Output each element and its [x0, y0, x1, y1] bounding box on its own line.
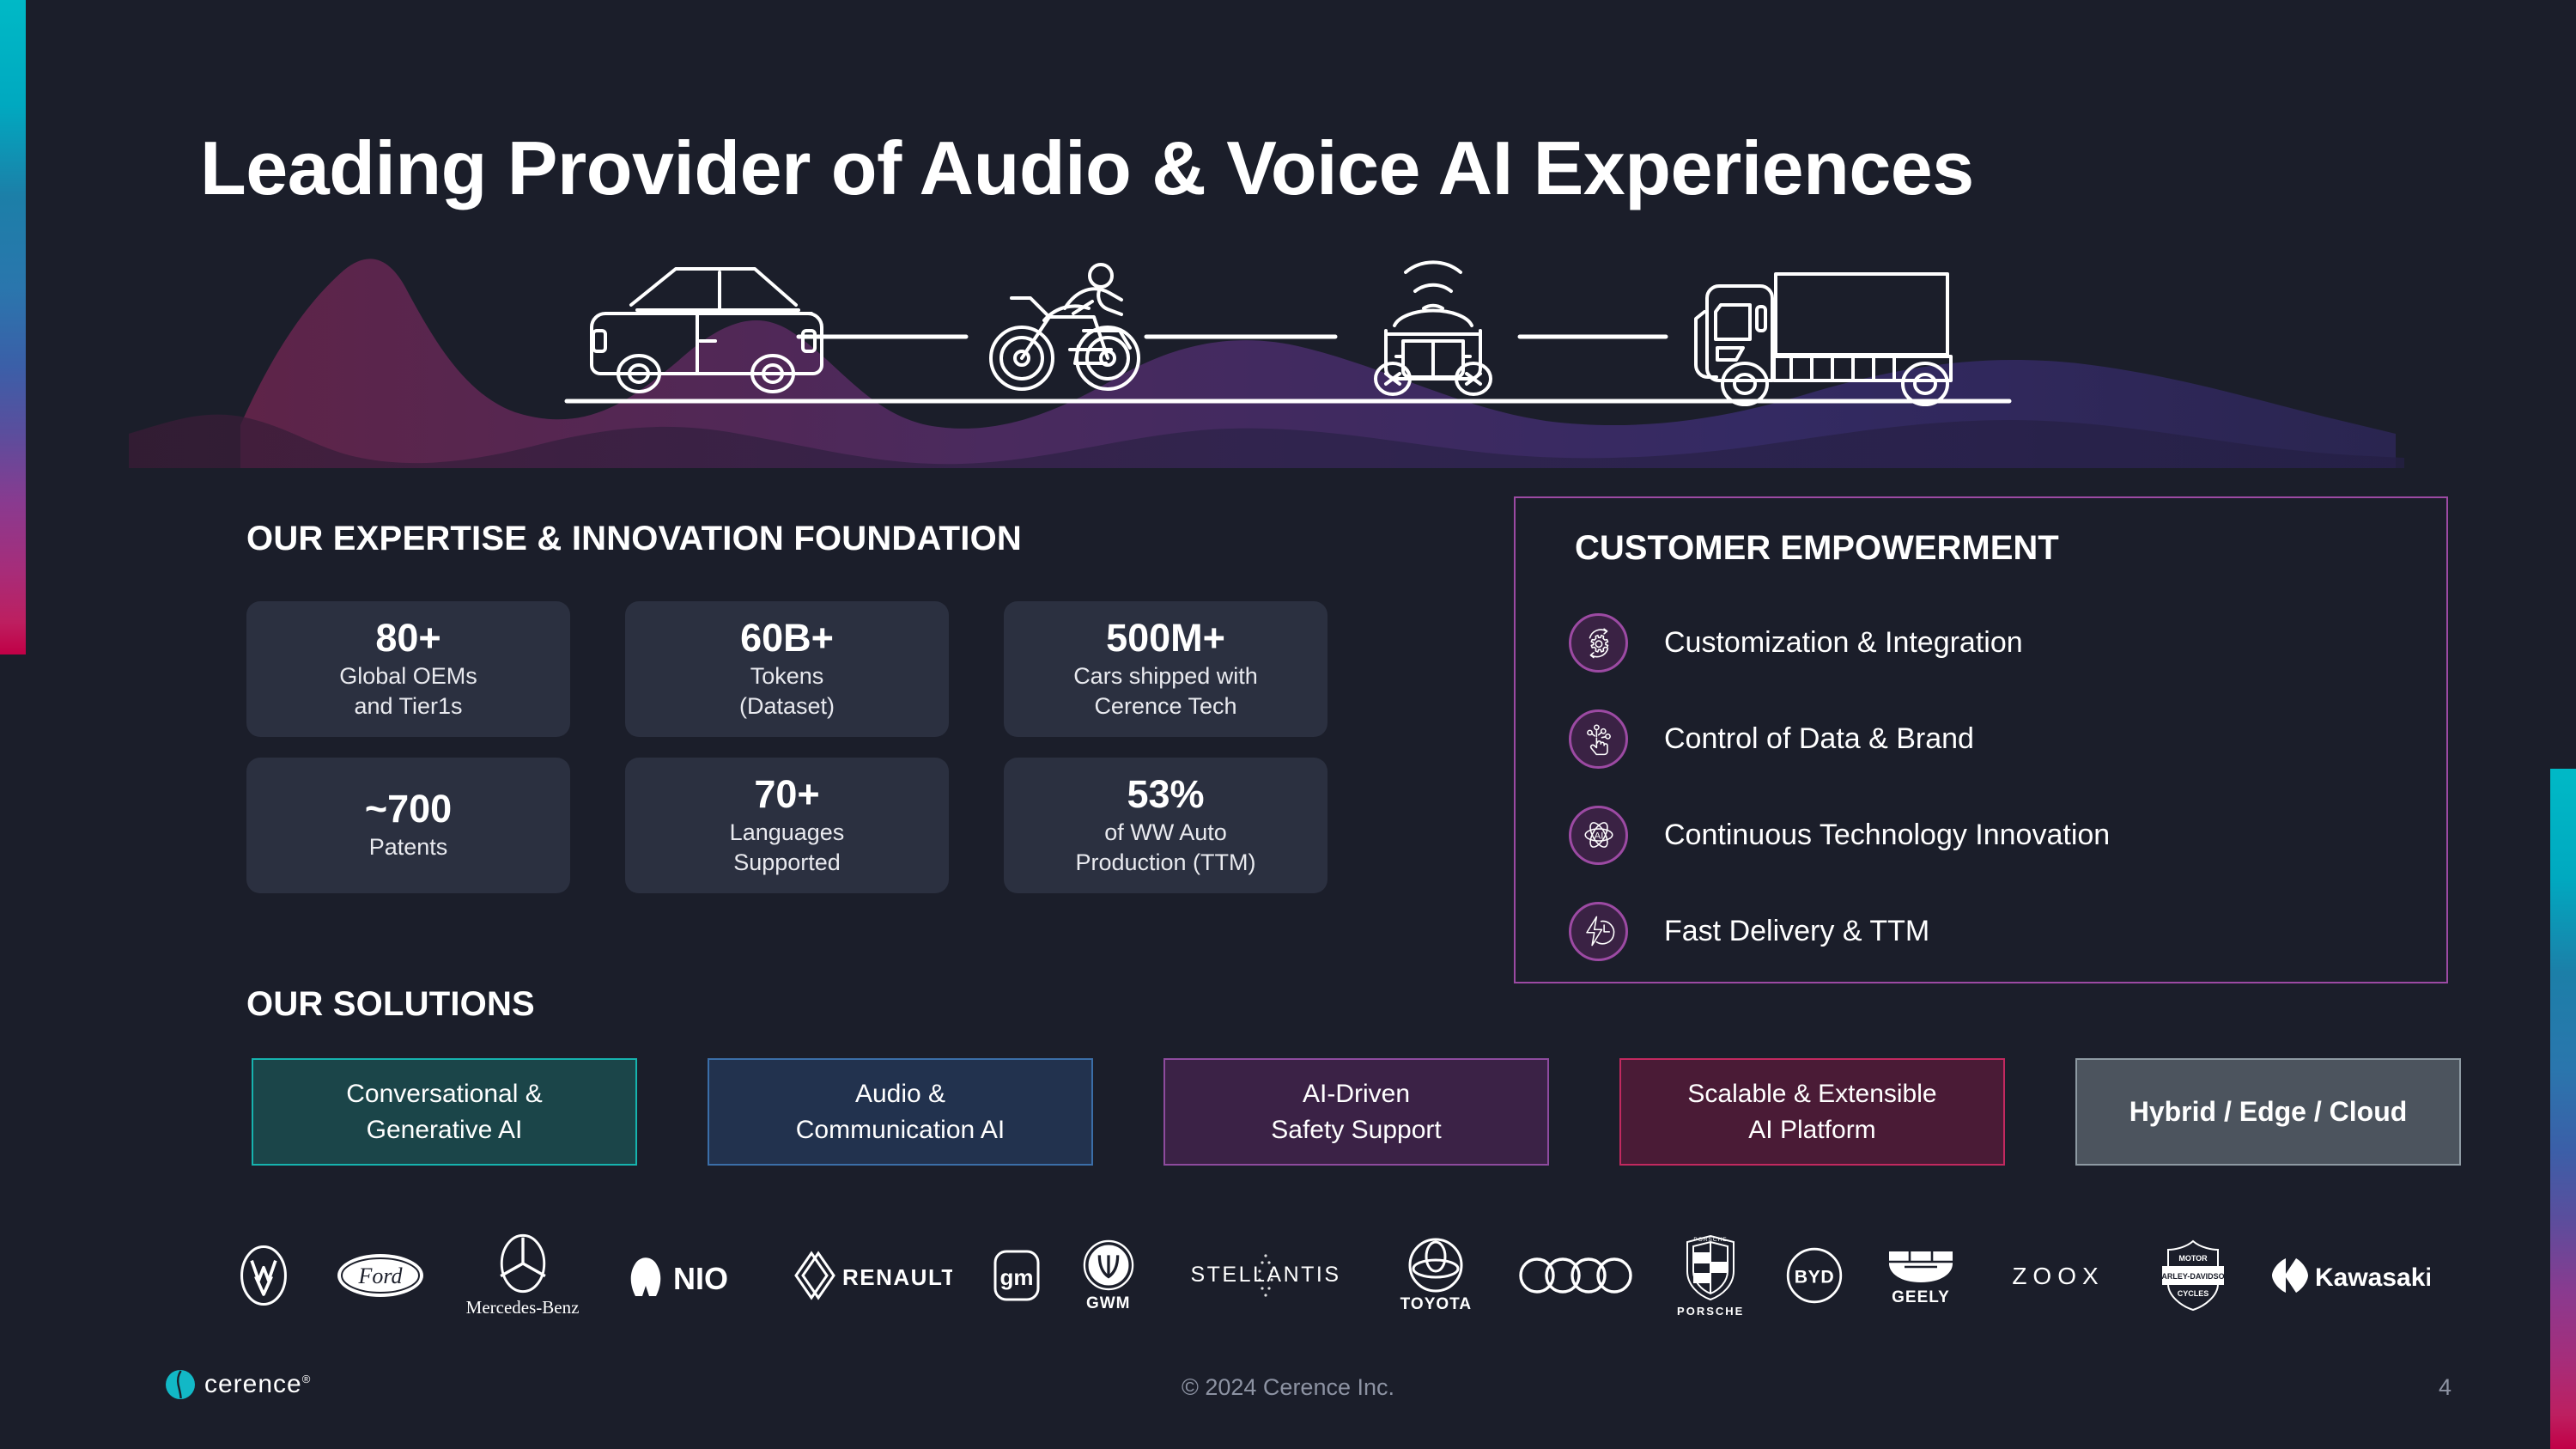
svg-text:HARLEY-DAVIDSON: HARLEY-DAVIDSON — [2160, 1272, 2227, 1281]
harley-davidson-logo: HARLEY-DAVIDSONMOTORCYCLES — [2160, 1239, 2227, 1312]
stat-label: Patents — [369, 832, 448, 862]
svg-text:Ford: Ford — [358, 1263, 404, 1288]
stat-value: 80+ — [375, 618, 440, 658]
stat-value: 53% — [1127, 774, 1204, 814]
page-title: Leading Provider of Audio & Voice AI Exp… — [200, 125, 1974, 212]
logo-wordmark: GEELY — [1892, 1288, 1950, 1307]
svg-text:BYD: BYD — [1794, 1267, 1833, 1288]
customer-empowerment-panel: CUSTOMER EMPOWERMENT Customization & Int… — [1514, 496, 2448, 983]
customer-logo-strip: FordMercedes-BenzNIORENAULTgmGWMSTELLANT… — [232, 1224, 2430, 1327]
svg-text:ZOOX: ZOOX — [2013, 1263, 2105, 1289]
stat-card: 80+Global OEMsand Tier1s — [246, 601, 570, 737]
stat-label: Cars shipped withCerence Tech — [1073, 661, 1258, 721]
zoox-logo: ZOOX — [1998, 1258, 2118, 1293]
solutions-row: Conversational &Generative AIAudio &Comm… — [252, 1058, 2461, 1166]
stat-card: ~700Patents — [246, 758, 570, 893]
stat-card: 70+LanguagesSupported — [625, 758, 949, 893]
audi-logo — [1516, 1256, 1637, 1295]
byd-logo: BYD — [1785, 1246, 1844, 1305]
hero-vehicle-row — [0, 219, 2576, 468]
stat-card: 60B+Tokens(Dataset) — [625, 601, 949, 737]
car-icon — [592, 269, 822, 392]
logo-wordmark: PORSCHE — [1677, 1305, 1744, 1318]
stat-card: 53%of WW AutoProduction (TTM) — [1004, 758, 1327, 893]
stat-value: ~700 — [365, 788, 452, 829]
stat-value: 500M+ — [1106, 618, 1225, 658]
svg-text:gm: gm — [1000, 1264, 1034, 1290]
empowerment-heading: CUSTOMER EMPOWERMENT — [1575, 529, 2059, 568]
svg-text:PORSCHE: PORSCHE — [1694, 1237, 1728, 1243]
stat-value: 70+ — [754, 774, 819, 814]
bolt-clock-icon — [1569, 902, 1628, 961]
svg-text:NIO: NIO — [673, 1261, 728, 1296]
stat-card: 500M+Cars shipped withCerence Tech — [1004, 601, 1327, 737]
motorcycle-icon — [991, 265, 1139, 389]
svg-text:Kawasaki: Kawasaki — [2315, 1263, 2430, 1292]
solution-box[interactable]: AI-DrivenSafety Support — [1163, 1058, 1549, 1166]
solution-box[interactable]: Hybrid / Edge / Cloud — [2075, 1058, 2461, 1166]
toyota-logo: TOYOTA — [1396, 1238, 1475, 1314]
logo-wordmark: TOYOTA — [1400, 1295, 1472, 1314]
kawasaki-logo: Kawasaki — [2267, 1255, 2430, 1296]
renault-logo: RENAULT — [789, 1250, 952, 1301]
stat-label: Tokens(Dataset) — [739, 661, 835, 721]
svg-text:CYCLES: CYCLES — [2177, 1289, 2208, 1298]
volkswagen-logo — [232, 1244, 295, 1307]
gm-logo: gm — [993, 1249, 1041, 1302]
footer-page-number: 4 — [2439, 1374, 2451, 1401]
stellantis-logo: STELLANTIS — [1176, 1251, 1356, 1300]
porsche-logo: PORSCHEPORSCHE — [1677, 1233, 1744, 1318]
solution-box[interactable]: Audio &Communication AI — [708, 1058, 1093, 1166]
stat-card-grid: 80+Global OEMsand Tier1s60B+Tokens(Datas… — [246, 601, 1327, 893]
solution-box-label: Hybrid / Edge / Cloud — [2129, 1093, 2408, 1130]
svg-text:RENAULT: RENAULT — [842, 1264, 952, 1290]
solution-box-label: Scalable & ExtensibleAI Platform — [1687, 1076, 1936, 1148]
solution-box-label: Audio &Communication AI — [796, 1076, 1005, 1148]
ford-logo: Ford — [336, 1251, 425, 1300]
footer-copyright: © 2024 Cerence Inc. — [0, 1374, 2576, 1401]
truck-icon — [1696, 274, 1951, 405]
empowerment-item[interactable]: Customization & Integration — [1569, 594, 2410, 691]
expertise-heading: OUR EXPERTISE & INNOVATION FOUNDATION — [246, 520, 1022, 558]
empowerment-item-label: Continuous Technology Innovation — [1664, 819, 2110, 852]
svg-text:AI: AI — [1594, 831, 1603, 841]
solution-box[interactable]: Scalable & ExtensibleAI Platform — [1619, 1058, 2005, 1166]
logo-wordmark: GWM — [1086, 1294, 1131, 1313]
logo-wordmark: Mercedes-Benz — [466, 1297, 580, 1318]
svg-text:MOTOR: MOTOR — [2178, 1254, 2208, 1263]
right-accent-bar — [2550, 769, 2576, 1449]
stat-label: LanguagesSupported — [730, 818, 845, 877]
empowerment-item[interactable]: Control of Data & Brand — [1569, 691, 2410, 787]
stat-value: 60B+ — [740, 618, 834, 658]
hand-data-icon — [1569, 709, 1628, 769]
empowerment-item-label: Customization & Integration — [1664, 626, 2023, 660]
empowerment-item[interactable]: Fast Delivery & TTM — [1569, 883, 2410, 979]
nio-logo: NIO — [620, 1253, 749, 1298]
solution-box[interactable]: Conversational &Generative AI — [252, 1058, 637, 1166]
solutions-heading: OUR SOLUTIONS — [246, 985, 535, 1024]
slide-canvas: Leading Provider of Audio & Voice AI Exp… — [0, 0, 2576, 1449]
empowerment-item-label: Control of Data & Brand — [1664, 722, 1974, 756]
empowerment-item[interactable]: AIContinuous Technology Innovation — [1569, 787, 2410, 883]
mercedes-benz-logo: Mercedes-Benz — [466, 1233, 580, 1318]
svg-text:STELLANTIS: STELLANTIS — [1191, 1263, 1341, 1287]
ai-atom-icon: AI — [1569, 806, 1628, 865]
gear-refresh-icon — [1569, 613, 1628, 673]
stat-label: of WW AutoProduction (TTM) — [1075, 818, 1255, 877]
autonomous-shuttle-icon — [1376, 262, 1491, 394]
geely-logo: GEELY — [1884, 1245, 1958, 1307]
solution-box-label: AI-DrivenSafety Support — [1271, 1076, 1441, 1148]
solution-box-label: Conversational &Generative AI — [346, 1076, 542, 1148]
gwm-logo: GWM — [1082, 1239, 1135, 1313]
stat-label: Global OEMsand Tier1s — [339, 661, 477, 721]
empowerment-list: Customization & IntegrationControl of Da… — [1569, 594, 2410, 979]
empowerment-item-label: Fast Delivery & TTM — [1664, 915, 1929, 948]
